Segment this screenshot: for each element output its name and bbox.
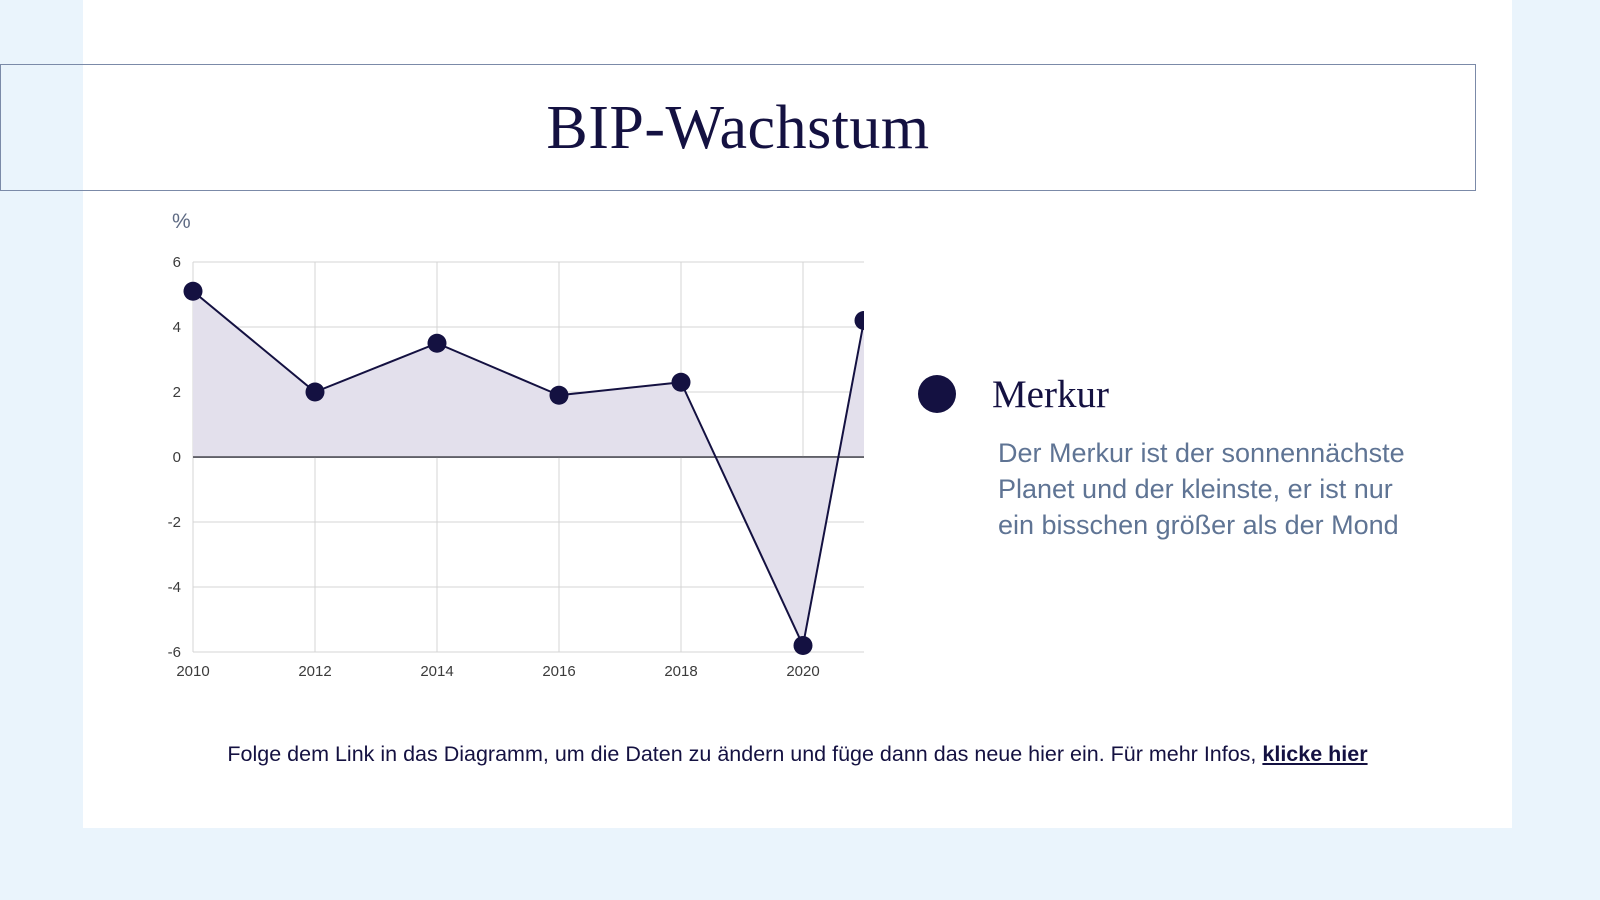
legend-series-label: Merkur: [992, 375, 1109, 414]
chart-data-point[interactable]: [428, 334, 447, 353]
chart-area-fill: [193, 291, 864, 645]
page-title: BIP-Wachstum: [546, 97, 929, 159]
chart-data-point[interactable]: [855, 311, 874, 330]
legend-item: Merkur: [918, 368, 1438, 420]
chart-container: % 6420-2-4-6201020122014201620182020: [83, 200, 883, 680]
footer-text: Folge dem Link in das Diagramm, um die D…: [227, 742, 1262, 766]
footer-link[interactable]: klicke hier: [1262, 742, 1367, 766]
x-axis-tick-label: 2020: [786, 663, 819, 680]
x-axis-tick-label: 2018: [664, 663, 697, 680]
chart-data-point[interactable]: [550, 386, 569, 405]
title-box: BIP-Wachstum: [0, 64, 1476, 191]
x-axis-tick-label: 2014: [420, 663, 453, 680]
y-axis-tick-label: 2: [173, 384, 181, 401]
x-axis-tick-label: 2010: [176, 663, 209, 680]
chart-data-point[interactable]: [306, 383, 325, 402]
legend-block: Merkur Der Merkur ist der sonnennächste …: [918, 368, 1438, 544]
y-axis-tick-label: -2: [168, 514, 181, 531]
footer-note: Folge dem Link in das Diagramm, um die D…: [83, 742, 1512, 767]
x-axis-tick-label: 2012: [298, 663, 331, 680]
chart-data-point[interactable]: [672, 373, 691, 392]
chart-data-point[interactable]: [794, 636, 813, 655]
y-axis-tick-label: 4: [173, 319, 181, 336]
y-axis-tick-label: -4: [168, 579, 181, 596]
line-area-chart[interactable]: 6420-2-4-6201020122014201620182020: [83, 200, 883, 680]
x-axis-tick-label: 2016: [542, 663, 575, 680]
chart-data-point[interactable]: [184, 282, 203, 301]
legend-description: Der Merkur ist der sonnennächste Planet …: [998, 436, 1428, 544]
y-axis-tick-label: 6: [173, 254, 181, 271]
y-axis-tick-label: 0: [173, 449, 181, 466]
filled-circle-icon: [918, 375, 956, 413]
y-axis-tick-label: -6: [168, 644, 181, 661]
